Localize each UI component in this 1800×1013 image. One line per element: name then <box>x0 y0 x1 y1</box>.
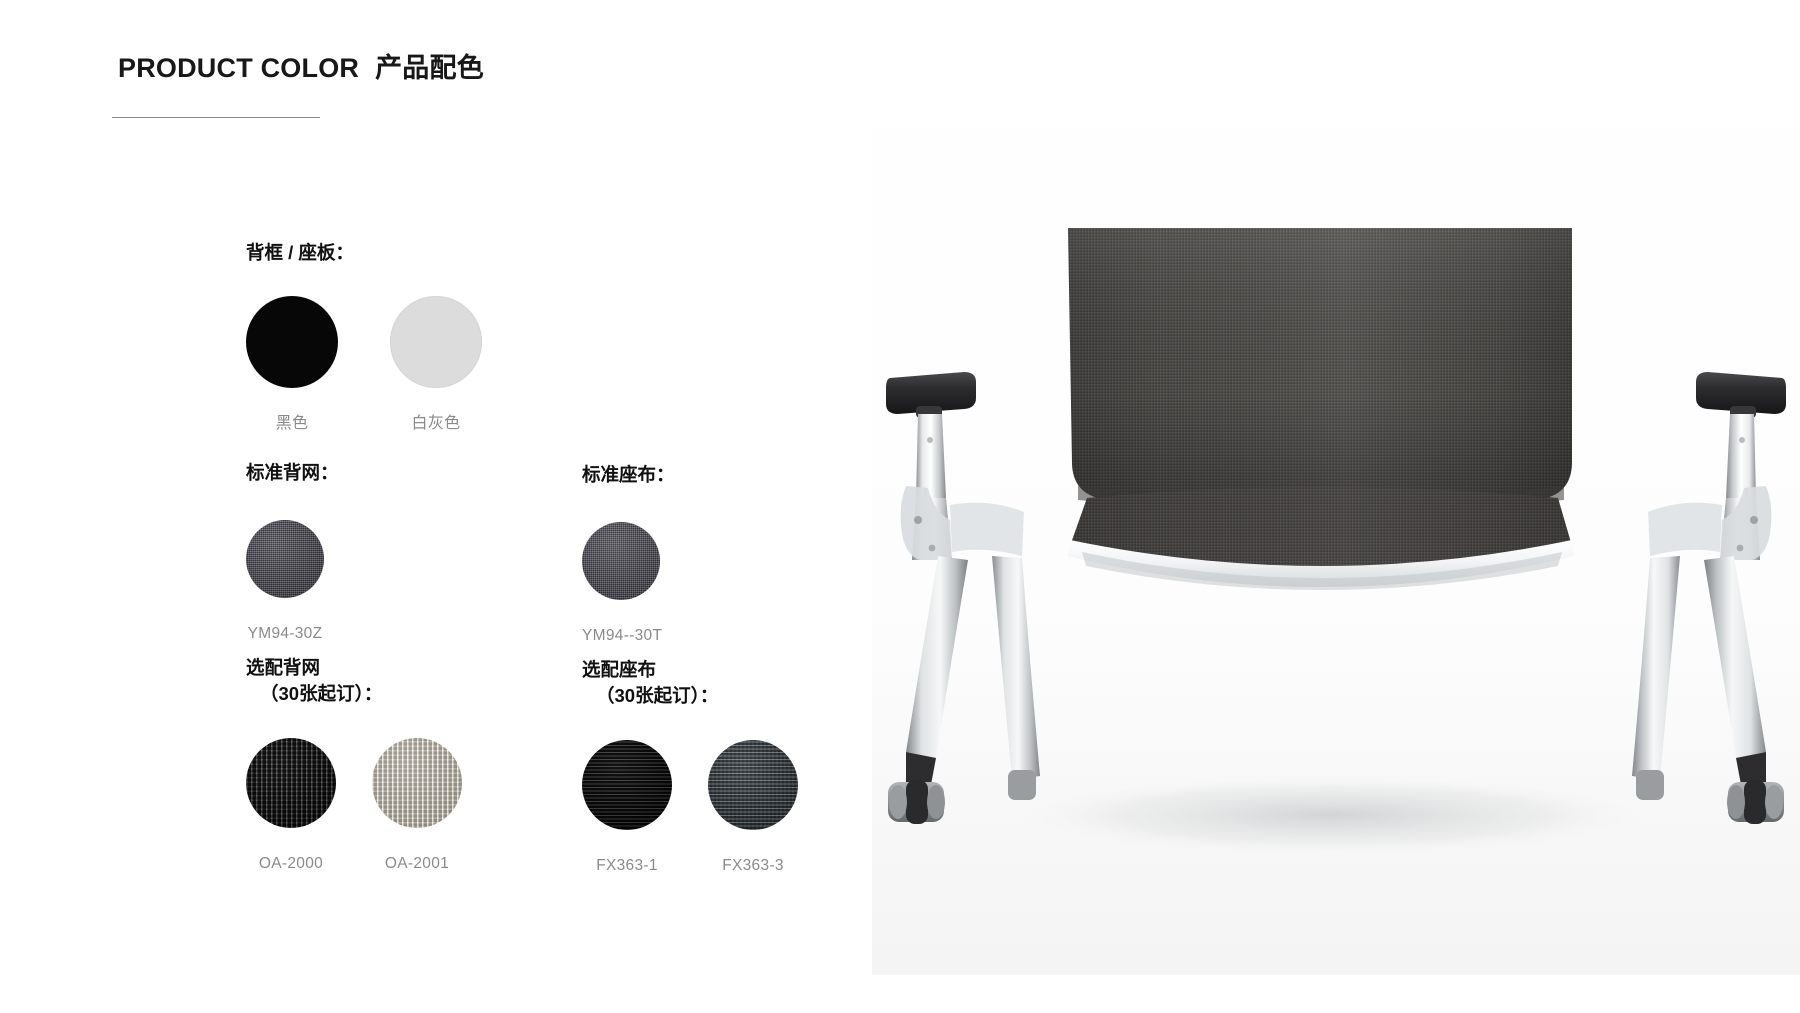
swatch-label-oa-2000: OA-2000 <box>246 856 336 872</box>
swatch-disc-fx363-1[interactable] <box>582 740 672 830</box>
swatch-disc-black[interactable] <box>246 296 338 388</box>
glide-rear-left <box>1008 770 1036 800</box>
swatch-cell-whitegrey[interactable]: 白灰色 <box>390 296 482 432</box>
group-heading-optional-fabric: 选配座布 （30张起订）： <box>582 657 798 708</box>
swatch-group-optional-fabric: 选配座布 （30张起订）： FX363-1 FX363-3 <box>582 657 798 874</box>
chair-seat <box>1068 487 1574 590</box>
group-heading-standard-mesh-text: 标准背网： <box>246 462 339 483</box>
armrest-post-right <box>1726 414 1756 498</box>
swatch-label-oa-2001: OA-2001 <box>372 856 462 872</box>
swatch-cell-black[interactable]: 黑色 <box>246 296 338 432</box>
swatch-row-standard-fabric: YM94--30T <box>582 522 675 644</box>
swatch-label-fx363-3: FX363-3 <box>708 858 798 874</box>
product-photo <box>872 0 1800 1013</box>
swatch-disc-oa-2001[interactable] <box>372 738 462 828</box>
group-heading-optional-mesh: 选配背网 （30张起订）： <box>246 655 462 706</box>
caster-front-right <box>1727 780 1784 824</box>
leg-front-left <box>888 556 968 824</box>
swatch-group-optional-mesh: 选配背网 （30张起订）： OA-2000 OA-2001 <box>246 655 462 872</box>
swatch-group-standard-fabric: 标准座布： YM94--30T <box>582 462 675 643</box>
group-heading-optional-mesh-text: 选配背网 <box>246 657 320 678</box>
armrest-right <box>1648 372 1786 560</box>
group-heading-standard-fabric: 标准座布： <box>582 462 675 488</box>
swatch-disc-oa-2000[interactable] <box>246 738 336 828</box>
swatch-label-fx363-1: FX363-1 <box>582 858 672 874</box>
group-heading-optional-fabric-moq: （30张起订）： <box>582 683 798 709</box>
swatch-row-optional-fabric: FX363-1 FX363-3 <box>582 740 798 874</box>
group-heading-standard-fabric-text: 标准座布： <box>582 464 675 485</box>
group-heading-optional-fabric-text: 选配座布 <box>582 659 656 680</box>
swatch-disc-fx363-3[interactable] <box>708 740 798 830</box>
glide-rear-right <box>1636 770 1664 800</box>
swatch-label-ym94-30t: YM94--30T <box>582 628 660 644</box>
swatch-label-ym94-30z: YM94-30Z <box>246 626 324 642</box>
swatch-cell-oa-2000[interactable]: OA-2000 <box>246 738 336 872</box>
swatch-disc-ym94-30z[interactable] <box>246 520 324 598</box>
swatch-label-black: 黑色 <box>246 416 338 432</box>
swatch-group-frame: 背框 / 座板： 黑色 白灰色 <box>246 240 482 432</box>
caster-front-left <box>888 780 945 824</box>
swatch-cell-fx363-3[interactable]: FX363-3 <box>708 740 798 874</box>
leg-rear-right-lower <box>1632 556 1680 800</box>
swatch-disc-whitegrey[interactable] <box>390 296 482 388</box>
swatch-cell-fx363-1[interactable]: FX363-1 <box>582 740 672 874</box>
group-heading-frame-text: 背框 / 座板： <box>246 242 354 263</box>
office-chair-illustration <box>872 0 1800 1013</box>
swatch-cell-ym94-30t[interactable]: YM94--30T <box>582 522 660 644</box>
armrest-left <box>886 372 1024 560</box>
floor-shadow <box>1002 773 1662 857</box>
group-heading-standard-mesh: 标准背网： <box>246 460 339 486</box>
leg-rear-left-lower <box>992 556 1040 800</box>
swatch-row-optional-mesh: OA-2000 OA-2001 <box>246 738 462 872</box>
swatch-disc-ym94-30t[interactable] <box>582 522 660 600</box>
swatch-cell-oa-2001[interactable]: OA-2001 <box>372 738 462 872</box>
swatch-label-whitegrey: 白灰色 <box>390 416 482 432</box>
back-frame-uprights <box>1020 372 1054 512</box>
color-swatch-area: 背框 / 座板： 黑色 白灰色 标准背网： YM94-30Z <box>0 0 880 1013</box>
swatch-cell-ym94-30z[interactable]: YM94-30Z <box>246 520 324 642</box>
chair-backrest <box>1068 228 1572 512</box>
group-heading-optional-mesh-moq: （30张起订）： <box>246 681 462 707</box>
swatch-row-standard-mesh: YM94-30Z <box>246 520 339 642</box>
leg-rear-left <box>916 372 950 500</box>
leg-front-right <box>1704 556 1784 824</box>
swatch-group-standard-mesh: 标准背网： YM94-30Z <box>246 460 339 641</box>
group-heading-frame: 背框 / 座板： <box>246 240 482 266</box>
swatch-row-frame: 黑色 白灰色 <box>246 296 482 432</box>
